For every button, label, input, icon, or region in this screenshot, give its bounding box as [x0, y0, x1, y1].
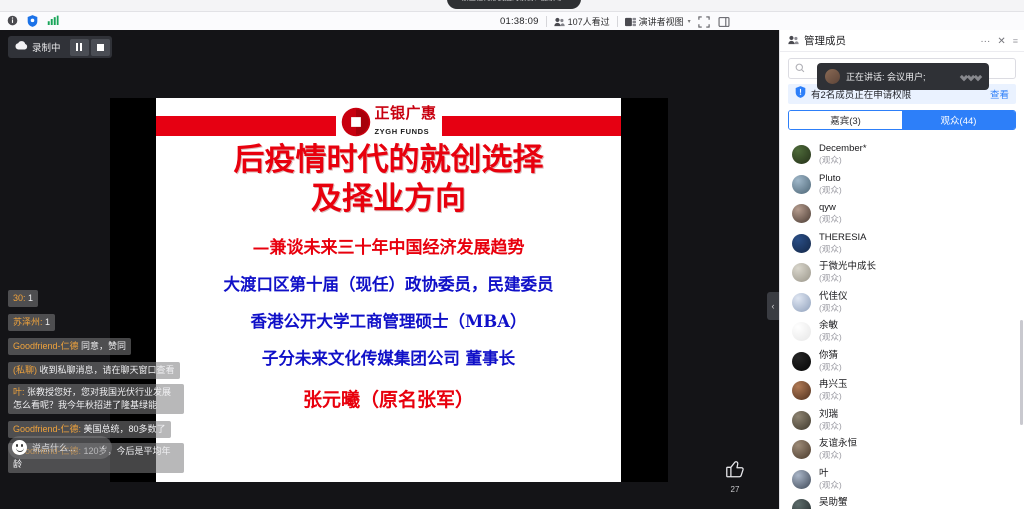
presentation-slide: 正银广惠 ZYGH FUNDS 后疫情时代的就创选择 及择业方向 —兼谈未来三十…: [156, 98, 621, 482]
participant-row[interactable]: Pluto(观众): [780, 170, 1024, 200]
panel-tabs: 嘉宾(3) 观众(44): [788, 110, 1016, 130]
participant-row[interactable]: 叶(观众): [780, 465, 1024, 495]
layout-button[interactable]: [718, 15, 731, 28]
participant-row[interactable]: December*(观众): [780, 140, 1024, 170]
chat-text: 1: [26, 293, 34, 303]
emoji-icon[interactable]: [12, 440, 27, 455]
search-icon: [795, 60, 805, 78]
recording-label: 录制中: [32, 40, 61, 54]
meeting-timer: 01:38:09: [500, 16, 539, 27]
participant-name: 友谊永恒: [819, 438, 857, 450]
chevron-down-icon: ▾: [571, 0, 575, 9]
chat-message-private: (私聊) 收到私聊消息，请在聊天窗口查看: [8, 362, 180, 379]
chat-input-placeholder[interactable]: 说点什么...: [32, 441, 97, 454]
participant-name: 冉兴玉: [819, 379, 848, 391]
participant-row[interactable]: 于微光中成长(观众): [780, 258, 1024, 288]
chat-input-bar[interactable]: 说点什么... ‹: [8, 436, 112, 459]
recording-warning-pill: ▾ 禁止任何形式之的录制、翻录等: [447, 0, 581, 9]
browser-top-strip: ▾ 禁止任何形式之的录制、翻录等: [0, 0, 1024, 12]
panel-scrollbar[interactable]: [1020, 320, 1023, 425]
participant-role: (观众): [819, 214, 842, 225]
participant-name: 余敏: [819, 320, 842, 332]
participants-panel: 管理成员 ··· ✕ ≡ 有2名成员正在申请权限 查看 正: [779, 30, 1024, 509]
speaker-avatar: [825, 69, 840, 84]
video-stage: 录制中: [0, 30, 779, 509]
participant-name: 于微光中成长: [819, 261, 876, 273]
chat-sender: 30:: [13, 293, 26, 303]
close-icon[interactable]: ✕: [997, 36, 1005, 47]
participant-name: qyw: [819, 202, 842, 214]
chat-sender: Goodfriend-仁德:: [13, 424, 81, 434]
chat-message: 30: 1: [8, 290, 38, 307]
chat-sender: (私聊): [13, 365, 37, 375]
chat-sender: Goodfriend-仁德: [13, 341, 79, 351]
tab-guests[interactable]: 嘉宾(3): [789, 111, 902, 129]
meeting-app: ▾ 禁止任何形式之的录制、翻录等 01:38:09 107人看过: [0, 0, 1024, 509]
participant-row[interactable]: 冉兴玉(观众): [780, 376, 1024, 406]
recording-controls: 录制中: [8, 36, 112, 58]
signal-icon[interactable]: [46, 14, 59, 27]
participant-row[interactable]: THERESIA(观众): [780, 229, 1024, 259]
speaking-tooltip-text: 正在讲话: 会议用户;: [846, 70, 955, 83]
avatar: [792, 263, 811, 282]
view-mode-label: 演讲者视图: [639, 15, 684, 28]
avatar: [792, 381, 811, 400]
chat-text: 美国总统，80多数了: [81, 424, 166, 434]
avatar: [792, 322, 811, 341]
participant-role: (观众): [819, 421, 842, 432]
slide-subtitle: —兼谈未来三十年中国经济发展趋势: [156, 233, 621, 258]
cloud-icon: [15, 41, 28, 53]
participant-row[interactable]: 刘瑞(观众): [780, 406, 1024, 436]
slide-credential-2: 香港公开大学工商管理硕士（MBA）: [156, 308, 621, 332]
participant-role: (观众): [819, 450, 857, 461]
participant-role: (观众): [819, 480, 842, 491]
shield-alert-icon: [795, 85, 806, 103]
avatar: [792, 204, 811, 223]
avatar: [792, 234, 811, 253]
more-horizontal-icon[interactable]: ···: [980, 36, 990, 47]
chat-text: 张教授您好，您对我国光伏行业发展怎么看呢？我今年秋招进了隆基绿能: [13, 387, 171, 410]
view-requests-link[interactable]: 查看: [990, 87, 1009, 101]
panel-title: 管理成员: [804, 33, 846, 48]
chrome-row: 01:38:09 107人看过 演讲者视图 ▾: [0, 12, 1024, 30]
slide-title-line-1: 后疫情时代的就创选择: [156, 142, 621, 179]
speaker-view-icon: [625, 17, 636, 27]
avatar: [792, 470, 811, 489]
pause-recording-button[interactable]: [70, 39, 89, 56]
participant-row[interactable]: 余敏(观众): [780, 317, 1024, 347]
avatar: [792, 293, 811, 312]
meeting-toolbar: 01:38:09 107人看过 演讲者视图 ▾: [500, 13, 731, 30]
toolbar-divider: [546, 16, 547, 27]
like-count: 27: [724, 485, 746, 494]
participant-role: (观众): [819, 273, 876, 284]
participant-list[interactable]: December*(观众)Pluto(观众)qyw(观众)THERESIA(观众…: [780, 140, 1024, 509]
participant-row[interactable]: 吴助蟹(观众): [780, 494, 1024, 509]
recording-status: 录制中: [10, 40, 68, 54]
chevron-left-icon: ‹: [772, 301, 775, 311]
logo-english-name: ZYGH FUNDS: [374, 127, 429, 136]
thumbs-up-icon: [724, 466, 746, 483]
logo-mark-icon: [340, 107, 370, 137]
menu-icon[interactable]: ≡: [1013, 36, 1018, 46]
participant-row[interactable]: 你猜(观众): [780, 347, 1024, 377]
avatar: [792, 411, 811, 430]
participant-name: 你猜: [819, 350, 842, 362]
participant-row[interactable]: 友谊永恒(观众): [780, 435, 1024, 465]
participant-role: (观众): [819, 362, 842, 373]
avatar: [792, 175, 811, 194]
slide-credential-3: 子分未来文化传媒集团公司 董事长: [156, 345, 621, 369]
manage-members-icon: [788, 32, 799, 50]
chat-sender: 叶:: [13, 387, 25, 397]
people-icon: [554, 17, 565, 27]
chat-message: 叶: 张教授您好，您对我国光伏行业发展怎么看呢？我今年秋招进了隆基绿能: [8, 384, 184, 414]
speaking-tooltip: 正在讲话: 会议用户;: [817, 63, 989, 90]
slide-speaker-name: 张元曦（原名张军）: [156, 385, 621, 412]
chevron-down-icon: ▾: [688, 18, 691, 25]
panel-header: 管理成员 ··· ✕ ≡: [780, 30, 1024, 52]
chat-text: 同意，赞同: [79, 341, 127, 351]
viewers-count-label: 107人看过: [568, 15, 610, 28]
slide-credential-1: 大渡口区第十届（现任）政协委员，民建委员: [156, 271, 621, 295]
chat-sender: 苏泽州:: [13, 317, 43, 327]
participant-row[interactable]: 代佳仪(观众): [780, 288, 1024, 318]
participant-name: Pluto: [819, 173, 842, 185]
company-logo: 正银广惠 ZYGH FUNDS: [335, 106, 441, 138]
like-button[interactable]: 27: [724, 458, 746, 494]
shield-icon[interactable]: [26, 14, 39, 27]
participant-role: (观众): [819, 155, 867, 166]
participant-name: 叶: [819, 468, 842, 480]
tab-audience[interactable]: 观众(44): [902, 111, 1015, 129]
participant-name: December*: [819, 143, 867, 155]
view-mode-selector[interactable]: 演讲者视图 ▾: [625, 15, 691, 28]
logo-chinese-name: 正银广惠: [374, 104, 436, 122]
participant-role: (观众): [819, 332, 842, 343]
participant-name: 刘瑞: [819, 409, 842, 421]
participant-name: 代佳仪: [819, 291, 848, 303]
avatar: [792, 499, 811, 509]
participant-role: (观众): [819, 391, 848, 402]
panel-collapse-handle[interactable]: ‹: [767, 292, 779, 320]
participant-row[interactable]: qyw(观众): [780, 199, 1024, 229]
viewers-count[interactable]: 107人看过: [554, 15, 610, 28]
participant-role: (观众): [819, 303, 848, 314]
browser-left-icons: [6, 14, 59, 27]
chat-message: Goodfriend-仁德 同意，赞同: [8, 338, 131, 355]
slide-title-line-2: 及择业方向: [156, 181, 621, 218]
audio-wave-icon: [961, 74, 981, 80]
participant-role: (观众): [819, 244, 867, 255]
avatar: [792, 145, 811, 164]
chat-message: 苏泽州: 1: [8, 314, 55, 331]
avatar: [792, 352, 811, 371]
participant-name: 吴助蟹: [819, 497, 848, 509]
shared-screen[interactable]: 正银广惠 ZYGH FUNDS 后疫情时代的就创选择 及择业方向 —兼谈未来三十…: [110, 98, 668, 482]
recording-warning-text: 禁止任何形式之的录制、翻录等: [462, 0, 563, 2]
chat-text: 收到私聊消息，请在聊天窗口查看: [37, 365, 175, 375]
chat-text: 1: [43, 317, 51, 327]
chevron-left-icon[interactable]: ‹: [102, 442, 108, 453]
info-icon[interactable]: [6, 14, 19, 27]
participant-name: THERESIA: [819, 232, 867, 244]
toolbar-divider-2: [617, 16, 618, 27]
participant-role: (观众): [819, 185, 842, 196]
avatar: [792, 440, 811, 459]
stop-recording-button[interactable]: [91, 39, 110, 56]
fullscreen-button[interactable]: [698, 15, 711, 28]
